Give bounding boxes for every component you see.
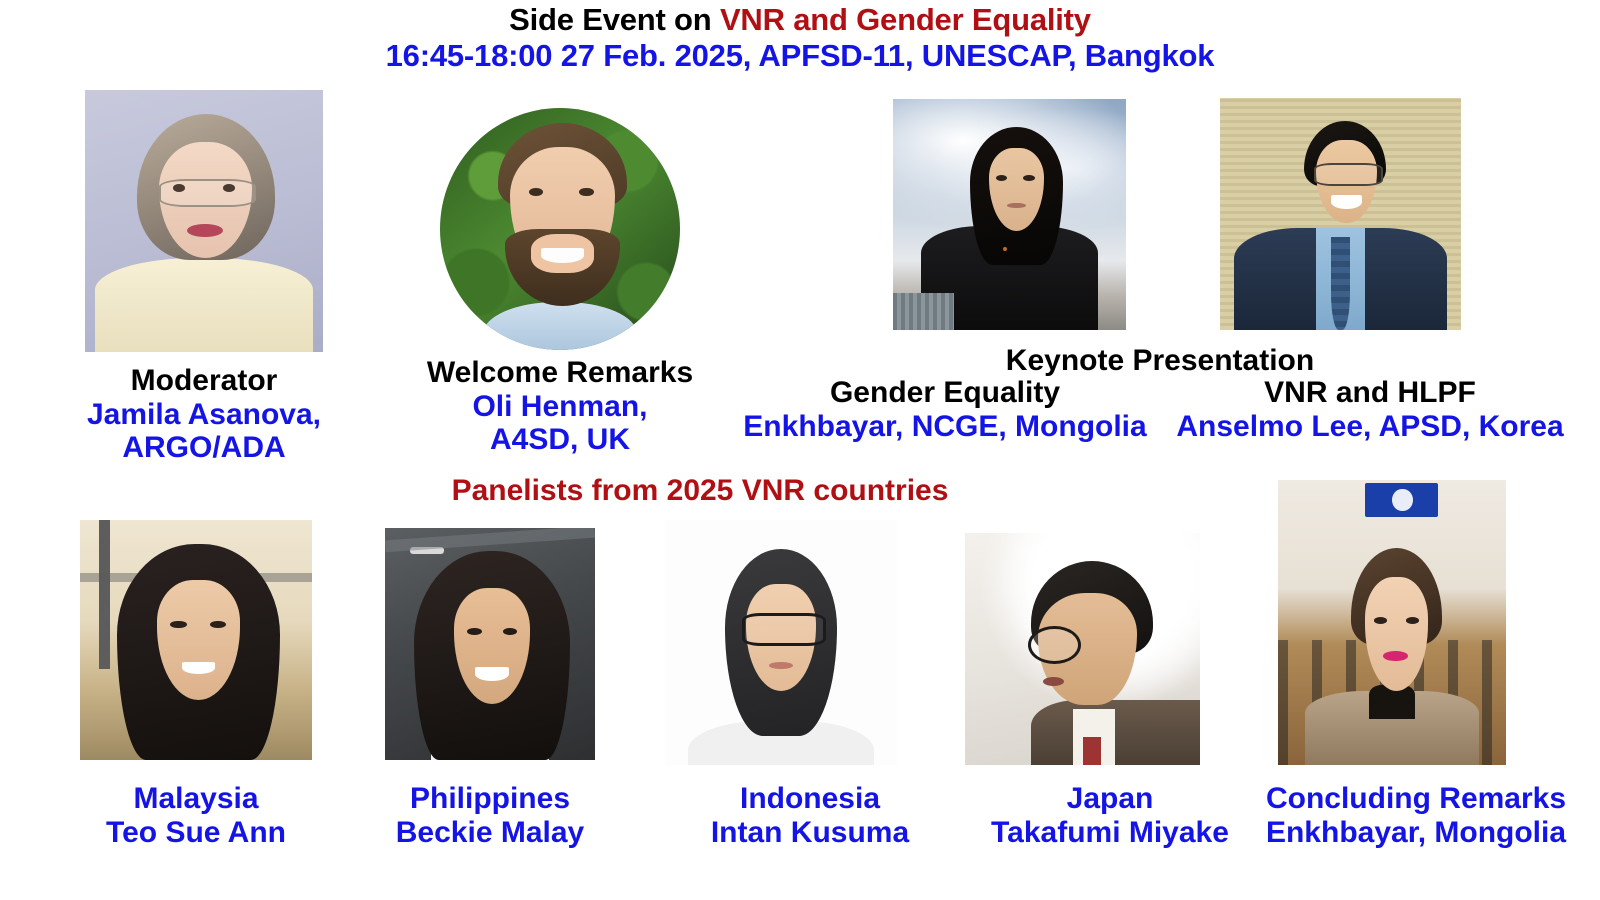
caption-country: Indonesia xyxy=(660,782,960,816)
portrait-illustration xyxy=(965,533,1200,765)
photo-enkhbayar-closing xyxy=(1278,480,1506,765)
photo-oli-henman xyxy=(440,108,680,350)
portrait-illustration xyxy=(665,520,897,765)
caption-name-1: Intan Kusuma xyxy=(660,816,960,850)
caption-name-1: Takafumi Miyake xyxy=(960,816,1260,850)
slide-title: Side Event on VNR and Gender Equality 16… xyxy=(0,2,1600,74)
caption-name-1: Teo Sue Ann xyxy=(36,816,356,850)
caption-name-1: Anselmo Lee, APSD, Korea xyxy=(1160,410,1580,444)
caption-oli-henman: Welcome Remarks Oli Henman, A4SD, UK xyxy=(400,356,720,457)
photo-intan-kusuma xyxy=(665,520,897,765)
portrait-illustration xyxy=(80,520,312,760)
caption-country: Malaysia xyxy=(36,782,356,816)
caption-takafumi-miyake: Japan Takafumi Miyake xyxy=(960,782,1260,849)
caption-role: Welcome Remarks xyxy=(400,356,720,390)
caption-enkhbayar: Gender Equality Enkhbayar, NCGE, Mongoli… xyxy=(736,376,1154,443)
slide-canvas: Side Event on VNR and Gender Equality 16… xyxy=(0,0,1600,900)
caption-role: VNR and HLPF xyxy=(1160,376,1580,410)
keynote-presentation-header: Keynote Presentation xyxy=(880,344,1440,378)
portrait-illustration xyxy=(1278,480,1506,765)
caption-intan-kusuma: Indonesia Intan Kusuma xyxy=(660,782,960,849)
caption-enkhbayar-closing: Concluding Remarks Enkhbayar, Mongolia xyxy=(1240,782,1592,849)
caption-teo-sue-ann: Malaysia Teo Sue Ann xyxy=(36,782,356,849)
caption-name-1: Jamila Asanova, xyxy=(44,398,364,432)
caption-beckie-malay: Philippines Beckie Malay xyxy=(340,782,640,849)
caption-name-1: Oli Henman, xyxy=(400,390,720,424)
photo-jamila-asanova xyxy=(85,90,323,352)
photo-enkhbayar xyxy=(893,99,1126,330)
portrait-illustration xyxy=(1220,98,1461,330)
caption-name-1: Beckie Malay xyxy=(340,816,640,850)
portrait-illustration xyxy=(440,108,680,350)
portrait-illustration xyxy=(85,90,323,352)
title-line-1: Side Event on VNR and Gender Equality xyxy=(0,2,1600,38)
caption-country: Philippines xyxy=(340,782,640,816)
caption-jamila-asanova: Moderator Jamila Asanova, ARGO/ADA xyxy=(44,364,364,465)
caption-anselmo-lee: VNR and HLPF Anselmo Lee, APSD, Korea xyxy=(1160,376,1580,443)
photo-teo-sue-ann xyxy=(80,520,312,760)
photo-beckie-malay xyxy=(385,528,595,760)
title-line-2: 16:45-18:00 27 Feb. 2025, APFSD-11, UNES… xyxy=(0,38,1600,74)
title-prefix: Side Event on xyxy=(509,2,720,37)
caption-name-2: A4SD, UK xyxy=(400,423,720,457)
caption-name-2: ARGO/ADA xyxy=(44,431,364,465)
caption-role: Moderator xyxy=(44,364,364,398)
caption-role: Gender Equality xyxy=(736,376,1154,410)
portrait-illustration xyxy=(385,528,595,760)
panelists-header: Panelists from 2025 VNR countries xyxy=(0,474,1400,508)
caption-country: Japan xyxy=(960,782,1260,816)
portrait-illustration xyxy=(893,99,1126,330)
caption-role: Concluding Remarks xyxy=(1240,782,1592,816)
photo-takafumi-miyake xyxy=(965,533,1200,765)
caption-name-1: Enkhbayar, NCGE, Mongolia xyxy=(736,410,1154,444)
photo-anselmo-lee xyxy=(1220,98,1461,330)
caption-name-1: Enkhbayar, Mongolia xyxy=(1240,816,1592,850)
title-highlight: VNR and Gender Equality xyxy=(720,2,1091,37)
